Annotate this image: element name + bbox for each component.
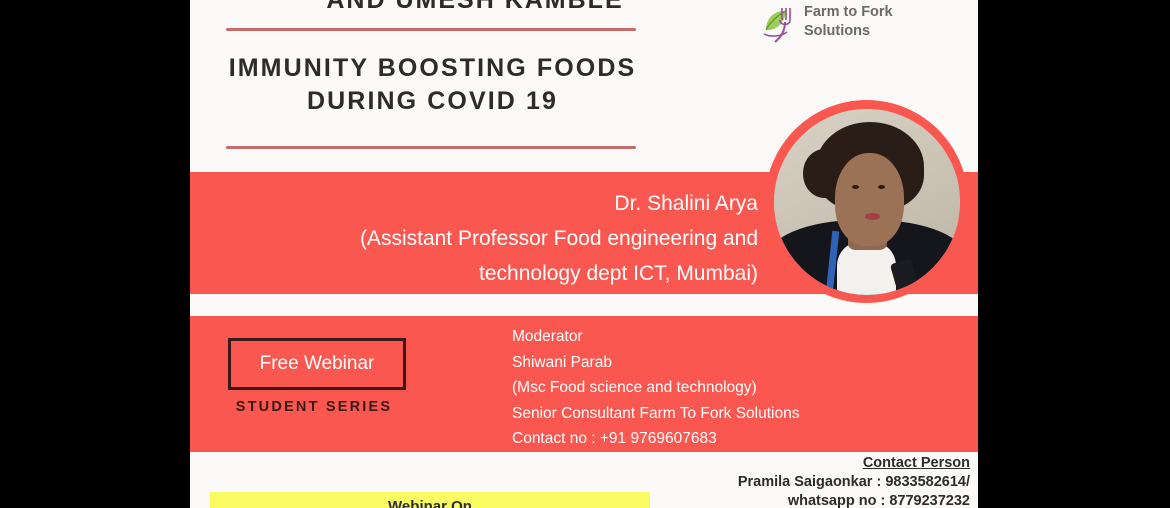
photo-eye-right bbox=[878, 185, 885, 189]
divider-bottom bbox=[226, 146, 636, 149]
brand-logo-line-1: Farm to Fork bbox=[804, 3, 954, 22]
avatar bbox=[774, 109, 960, 295]
poster-footer: Contact Person Pramila Saigaonkar : 9833… bbox=[190, 452, 978, 508]
title-line-2: DURING COVID 19 bbox=[190, 85, 675, 118]
presenter-line: AND UMESH KAMBLE bbox=[190, 0, 760, 15]
moderator-band: Free Webinar STUDENT SERIES Moderator Sh… bbox=[190, 316, 978, 452]
moderator-role: Senior Consultant Farm To Fork Solutions bbox=[512, 401, 972, 427]
contact-person-line-1: Pramila Saigaonkar : 9833582614/ bbox=[550, 473, 970, 492]
moderator-details: Moderator Shiwani Parab (Msc Food scienc… bbox=[512, 324, 972, 452]
contact-person-heading: Contact Person bbox=[550, 454, 970, 473]
photo-face bbox=[835, 153, 904, 246]
leaf-fork-logo-icon bbox=[760, 4, 800, 46]
brand-logo-text: Farm to Fork Solutions bbox=[804, 3, 954, 41]
title-line-1: IMMUNITY BOOSTING FOODS bbox=[190, 52, 675, 85]
brand-logo-line-2: Solutions bbox=[804, 22, 954, 41]
free-webinar-badge: Free Webinar bbox=[228, 338, 406, 390]
webinar-highlight-banner: Webinar On bbox=[210, 492, 650, 508]
moderator-contact: Contact no : +91 9769607683 bbox=[512, 426, 972, 452]
photo-shirt bbox=[837, 242, 897, 294]
free-webinar-label: Free Webinar bbox=[260, 353, 375, 375]
page-title: IMMUNITY BOOSTING FOODS DURING COVID 19 bbox=[190, 52, 675, 118]
moderator-qualification: (Msc Food science and technology) bbox=[512, 375, 972, 401]
letterbox-backdrop: AND UMESH KAMBLE IMMUNITY BOOSTING FOODS… bbox=[0, 0, 1170, 508]
divider-top bbox=[226, 28, 636, 31]
photo-eye-left bbox=[852, 185, 859, 189]
photo-mouth bbox=[865, 213, 880, 220]
webinar-poster: AND UMESH KAMBLE IMMUNITY BOOSTING FOODS… bbox=[190, 0, 978, 508]
speaker-affiliation-line-2: technology dept ICT, Mumbai) bbox=[218, 256, 758, 291]
speaker-details: Dr. Shalini Arya (Assistant Professor Fo… bbox=[218, 186, 758, 291]
brand-logo: Farm to Fork Solutions bbox=[760, 2, 960, 50]
student-series-label: STUDENT SERIES bbox=[228, 399, 400, 415]
speaker-photo-frame bbox=[765, 100, 968, 303]
webinar-highlight-text: Webinar On bbox=[210, 492, 650, 508]
speaker-affiliation-line-1: (Assistant Professor Food engineering an… bbox=[218, 221, 758, 256]
moderator-name: Shiwani Parab bbox=[512, 350, 972, 376]
speaker-name: Dr. Shalini Arya bbox=[218, 186, 758, 221]
moderator-heading: Moderator bbox=[512, 324, 972, 350]
